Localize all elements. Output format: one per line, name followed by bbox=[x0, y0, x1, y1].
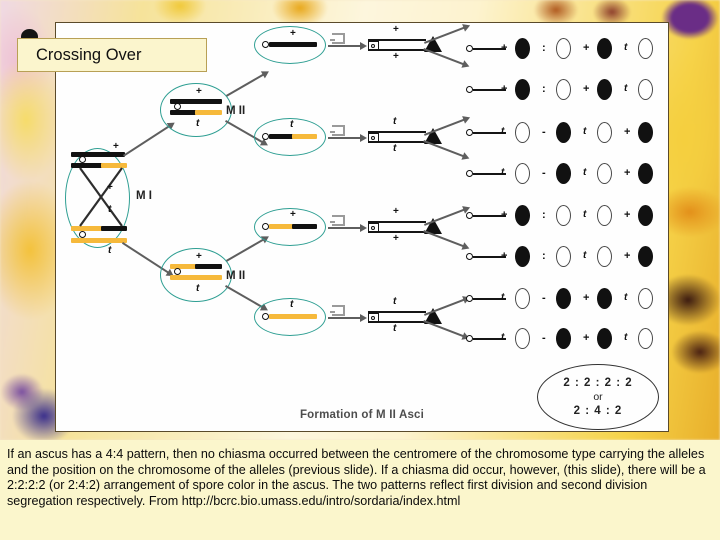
ascus-centromere bbox=[466, 129, 473, 136]
mi-allele-3: t bbox=[108, 245, 111, 256]
ascus-centromere bbox=[466, 335, 473, 342]
product-centromere-1 bbox=[262, 41, 269, 48]
ascus-row: t-+t bbox=[0, 0, 720, 30]
ascus-allele-label: + bbox=[583, 83, 589, 95]
ascus-allele-label: t bbox=[583, 250, 586, 261]
mii-upper-allele-0: + bbox=[196, 86, 202, 97]
spore-dark bbox=[638, 205, 653, 226]
mi-chromatid-4 bbox=[71, 238, 127, 243]
spore-dark bbox=[515, 38, 530, 59]
ascus-allele-label: + bbox=[624, 250, 630, 262]
ascus-allele-label: : bbox=[542, 250, 546, 262]
bracket-icon-2 bbox=[332, 125, 345, 136]
ascus-allele-label: - bbox=[542, 167, 546, 179]
spore-light bbox=[515, 122, 530, 143]
tetrad-4 bbox=[368, 309, 426, 325]
tetrad-1-bottom-label: + bbox=[393, 51, 399, 62]
ratio-summary-box: 2 : 2 : 2 : 2 or 2 : 4 : 2 bbox=[537, 364, 659, 430]
ascus-allele-label: t bbox=[624, 332, 627, 343]
ascus-allele-label: + bbox=[501, 83, 507, 95]
caption-text: If an ascus has a 4:4 pattern, then no c… bbox=[7, 447, 712, 509]
tetrad-3-top-label: + bbox=[393, 206, 399, 217]
product-chromatid-3b bbox=[292, 224, 317, 229]
mii-lower-allele-0: + bbox=[196, 251, 202, 262]
product-centromere-4 bbox=[262, 313, 269, 320]
product-allele-2: t bbox=[290, 119, 293, 130]
product-allele-3: + bbox=[290, 209, 296, 220]
spore-light bbox=[638, 328, 653, 349]
ascus-allele-label: t bbox=[583, 167, 586, 178]
slide-title: Crossing Over bbox=[36, 46, 141, 65]
spore-dark bbox=[638, 246, 653, 267]
product-centromere-3 bbox=[262, 223, 269, 230]
product-allele-4: t bbox=[290, 299, 293, 310]
spore-dark bbox=[515, 79, 530, 100]
product-chromatid-3a bbox=[269, 224, 293, 229]
tetrad-2-top-label: t bbox=[393, 116, 396, 127]
ascus-centromere bbox=[466, 253, 473, 260]
spore-dark bbox=[515, 205, 530, 226]
mii-lower-chromatid-2 bbox=[170, 275, 222, 280]
mii-upper-chromatid-2b bbox=[195, 110, 222, 115]
spore-dark bbox=[556, 328, 571, 349]
caption-strip: If an ascus has a 4:4 pattern, then no c… bbox=[0, 440, 720, 540]
ascus-allele-label: + bbox=[583, 292, 589, 304]
ascus-allele-label: t bbox=[501, 167, 504, 178]
spore-dark bbox=[556, 122, 571, 143]
stage-label-mii-upper: M II bbox=[226, 105, 245, 117]
ascus-allele-label: t bbox=[624, 292, 627, 303]
spore-light bbox=[556, 246, 571, 267]
ratio-line-3: 2 : 4 : 2 bbox=[574, 404, 623, 418]
ascus-centromere bbox=[466, 86, 473, 93]
ascus-centromere bbox=[466, 295, 473, 302]
spore-dark bbox=[556, 163, 571, 184]
spore-light bbox=[638, 38, 653, 59]
ascus-allele-label: + bbox=[501, 42, 507, 54]
mi-centromere-top bbox=[79, 156, 86, 163]
mi-centromere-bottom bbox=[79, 231, 86, 238]
ascus-centromere bbox=[466, 212, 473, 219]
ascus-allele-label: + bbox=[624, 209, 630, 221]
product-chromatid-1 bbox=[269, 42, 317, 47]
spore-dark bbox=[597, 38, 612, 59]
ascus-allele-label: : bbox=[542, 83, 546, 95]
slide-title-plate[interactable]: Crossing Over bbox=[17, 38, 207, 72]
mi-allele-0: + bbox=[113, 141, 119, 152]
mii-upper-allele-1: t bbox=[196, 118, 199, 129]
spore-dark bbox=[638, 122, 653, 143]
mii-upper-chromatid-2a bbox=[170, 110, 196, 115]
tetrad-4-top-label: t bbox=[393, 296, 396, 307]
spore-dark bbox=[597, 288, 612, 309]
chiasma-cross bbox=[78, 166, 124, 228]
spore-dark bbox=[515, 246, 530, 267]
spore-light bbox=[597, 122, 612, 143]
ratio-line-2: or bbox=[593, 390, 602, 404]
ascus-allele-label: : bbox=[542, 42, 546, 54]
ascus-centromere bbox=[466, 45, 473, 52]
spore-light bbox=[638, 79, 653, 100]
ascus-allele-label: t bbox=[501, 332, 504, 343]
spore-light bbox=[597, 246, 612, 267]
tetrad-4-bottom-label: t bbox=[393, 323, 396, 334]
spore-light bbox=[638, 288, 653, 309]
ascus-allele-label: - bbox=[542, 126, 546, 138]
mi-allele-2: t bbox=[108, 204, 111, 215]
ascus-allele-label: t bbox=[624, 42, 627, 53]
ascus-allele-label: + bbox=[501, 250, 507, 262]
spore-dark bbox=[597, 328, 612, 349]
tetrad-2-bottom-label: t bbox=[393, 143, 396, 154]
ascus-centromere bbox=[466, 170, 473, 177]
ascus-allele-label: t bbox=[583, 209, 586, 220]
spore-light bbox=[556, 205, 571, 226]
bracket-icon-4 bbox=[332, 305, 345, 316]
mii-lower-centromere bbox=[174, 268, 181, 275]
spore-light bbox=[556, 38, 571, 59]
spore-light bbox=[515, 163, 530, 184]
product-chromatid-2b bbox=[292, 134, 317, 139]
spore-light bbox=[556, 79, 571, 100]
stage-label-mii-lower: M II bbox=[226, 270, 245, 282]
spore-light bbox=[515, 288, 530, 309]
product-chromatid-4 bbox=[269, 314, 317, 319]
ascus-allele-label: + bbox=[583, 42, 589, 54]
ascus-allele-label: + bbox=[583, 332, 589, 344]
product-chromatid-2a bbox=[269, 134, 293, 139]
tetrad-3-bottom-label: + bbox=[393, 233, 399, 244]
ascus-allele-label: - bbox=[542, 332, 546, 344]
mii-lower-allele-1: t bbox=[196, 283, 199, 294]
mii-upper-centromere bbox=[174, 103, 181, 110]
ascus-allele-label: - bbox=[542, 292, 546, 304]
spore-dark bbox=[597, 79, 612, 100]
bracket-icon-3 bbox=[332, 215, 345, 226]
ascus-allele-label: + bbox=[624, 167, 630, 179]
ascus-allele-label: t bbox=[501, 126, 504, 137]
tetrad-2 bbox=[368, 129, 426, 145]
bracket-icon-1 bbox=[332, 33, 345, 44]
ascus-allele-label: t bbox=[624, 83, 627, 94]
spore-light bbox=[515, 328, 530, 349]
spore-dark bbox=[638, 163, 653, 184]
mii-lower-chromatid-1b bbox=[195, 264, 222, 269]
mi-allele-1: + bbox=[107, 182, 113, 193]
spore-light bbox=[597, 205, 612, 226]
spore-dark bbox=[556, 288, 571, 309]
product-centromere-2 bbox=[262, 133, 269, 140]
ascus-allele-label: t bbox=[501, 292, 504, 303]
ascus-allele-label: + bbox=[501, 209, 507, 221]
ascus-allele-label: : bbox=[542, 209, 546, 221]
ratio-line-1: 2 : 2 : 2 : 2 bbox=[563, 376, 632, 390]
ascus-allele-label: t bbox=[583, 126, 586, 137]
spore-light bbox=[597, 163, 612, 184]
stage-label-mi: M I bbox=[136, 190, 152, 202]
ascus-allele-label: + bbox=[624, 126, 630, 138]
